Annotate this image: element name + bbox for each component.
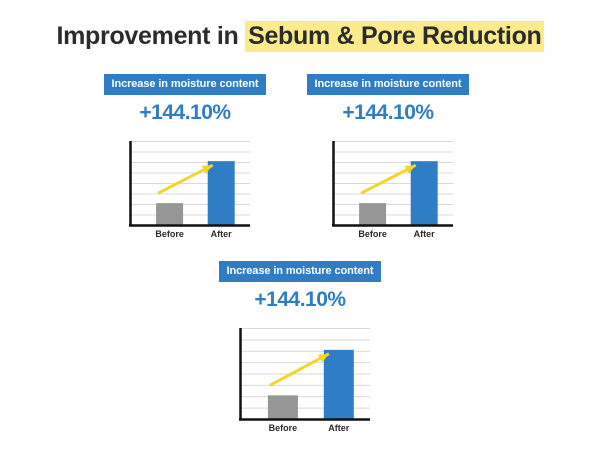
bar-after: [324, 350, 354, 419]
metric-value-1: +144.10%: [85, 101, 285, 125]
chart-1: BeforeAfter: [120, 139, 250, 243]
metric-value-3: +144.10%: [200, 288, 400, 312]
x-axis-labels: BeforeAfter: [230, 423, 370, 437]
bar-chart-svg-1: [120, 139, 250, 227]
bar-chart-svg-2: [323, 139, 453, 227]
metric-badge-1: Increase in moisture content: [104, 74, 267, 95]
growth-arrow-icon: [361, 165, 416, 193]
metric-card-3: Increase in moisture content +144.10% Be…: [200, 261, 400, 437]
bar-before: [156, 203, 183, 225]
metric-badge-2: Increase in moisture content: [307, 74, 470, 95]
bar-before: [359, 203, 386, 225]
bar-before: [268, 395, 298, 419]
x-axis-label-after: After: [191, 229, 251, 239]
page-title-highlight: Sebum & Pore Reduction: [245, 21, 543, 52]
page-title: Improvement in Sebum & Pore Reduction: [0, 22, 600, 51]
bar-chart-svg-3: [230, 326, 370, 421]
metric-card-1: Increase in moisture content +144.10% Be…: [85, 74, 285, 243]
page-title-plain: Improvement in: [56, 22, 245, 50]
growth-arrow-icon: [270, 354, 329, 386]
metric-value-2: +144.10%: [288, 101, 488, 125]
x-axis-label-after: After: [394, 229, 454, 239]
chart-3: BeforeAfter: [230, 326, 370, 437]
x-axis-label-after: After: [309, 423, 369, 433]
bar-after: [411, 161, 438, 225]
metric-badge-3: Increase in moisture content: [219, 261, 382, 282]
growth-arrow-icon: [158, 165, 213, 193]
x-axis-labels: BeforeAfter: [120, 229, 250, 243]
x-axis-labels: BeforeAfter: [323, 229, 453, 243]
chart-2: BeforeAfter: [323, 139, 453, 243]
metric-card-2: Increase in moisture content +144.10% Be…: [288, 74, 488, 243]
bar-after: [208, 161, 235, 225]
x-axis-label-before: Before: [253, 423, 313, 433]
